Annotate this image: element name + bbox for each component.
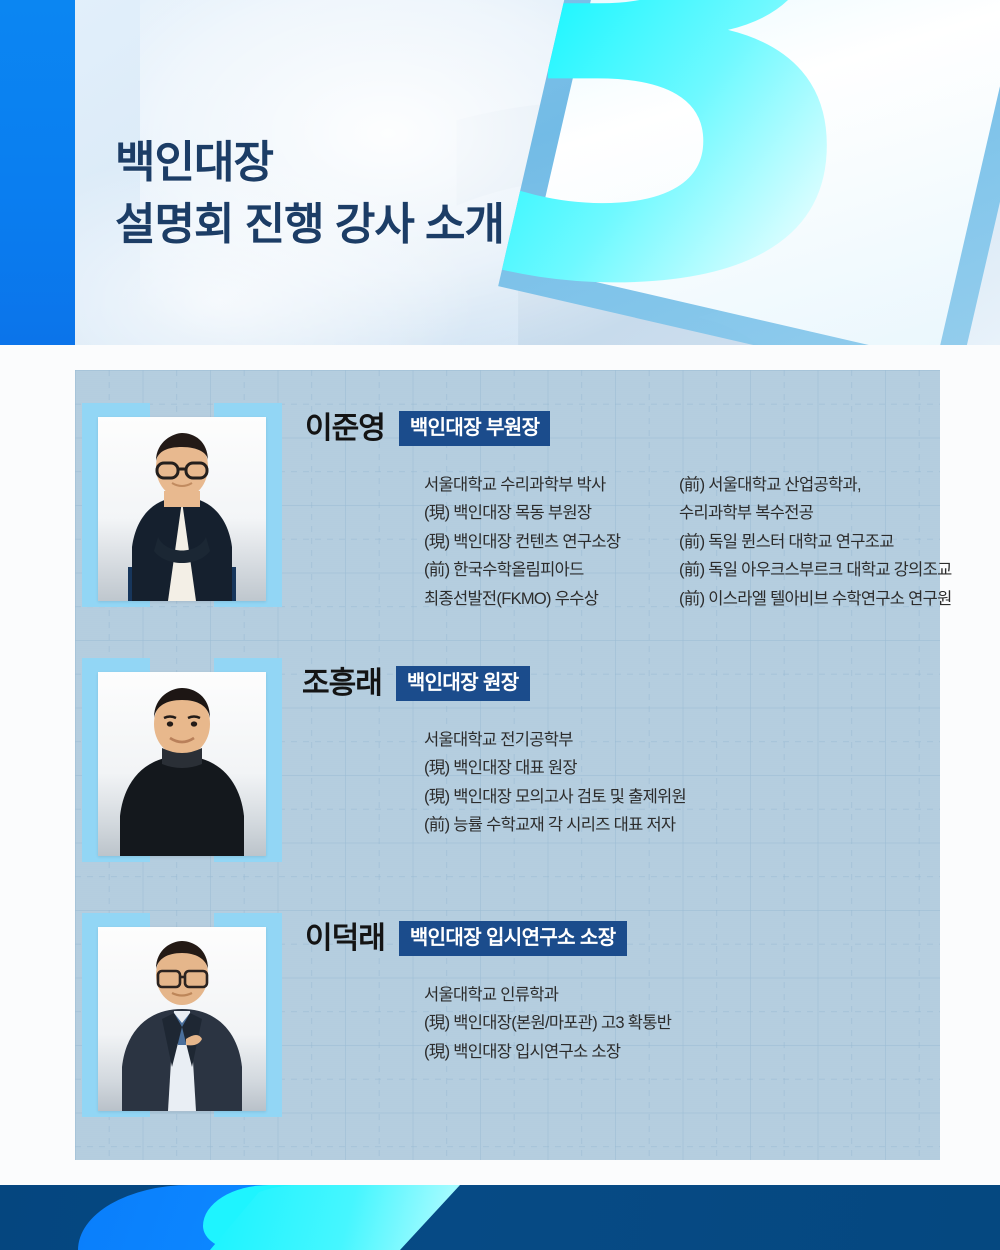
- detail-item: 서울대학교 수리과학부 박사: [424, 471, 639, 499]
- footer-decoration-bar: [0, 1185, 1000, 1250]
- header-banner: 3 3 백인대장 설명회 진행 강사 소개: [0, 0, 1000, 345]
- instructor-name: 조흥래: [302, 669, 382, 699]
- instructor-details: 서울대학교 인류학과 (現) 백인대장(본원/마포관) 고3 확통반 (現) 백…: [424, 981, 724, 1066]
- decor-numeral-three: 3: [498, 0, 879, 345]
- detail-item: 서울대학교 전기공학부: [424, 726, 724, 754]
- poster-root: 3 3 백인대장 설명회 진행 강사 소개: [0, 0, 1000, 1250]
- instructor-photo-frame: [82, 395, 282, 615]
- instructor-photo-frame: [82, 905, 282, 1125]
- header-left-accent-bar: [0, 0, 75, 345]
- instructor-details: 서울대학교 수리과학부 박사 (現) 백인대장 목동 부원장 (現) 백인대장 …: [424, 471, 979, 613]
- detail-item: (現) 백인대장 컨텐츠 연구소장: [424, 528, 639, 556]
- instructor-name-row: 조흥래 백인대장 원장: [302, 666, 530, 701]
- instructor-title-badge: 백인대장 원장: [396, 666, 530, 701]
- detail-item: (現) 백인대장 입시연구소 소장: [424, 1038, 724, 1066]
- portrait-illustration-icon: [98, 417, 266, 601]
- details-column-left: 서울대학교 전기공학부 (現) 백인대장 대표 원장 (現) 백인대장 모의고사…: [424, 726, 724, 840]
- detail-item: (現) 백인대장 목동 부원장: [424, 499, 639, 527]
- page-title: 백인대장 설명회 진행 강사 소개: [115, 132, 504, 257]
- detail-item: (現) 백인대장 대표 원장: [424, 754, 724, 782]
- instructor-name-row: 이준영 백인대장 부원장: [305, 411, 550, 446]
- detail-item: (現) 백인대장 모의고사 검토 및 출제위원: [424, 783, 724, 811]
- detail-item: (前) 독일 아우크스부르크 대학교 강의조교: [679, 556, 979, 584]
- detail-item: (前) 이스라엘 텔아비브 수학연구소 연구원: [679, 585, 979, 613]
- instructor-portrait-photo: [98, 927, 266, 1111]
- instructor-portrait-photo: [98, 672, 266, 856]
- instructor-name-row: 이덕래 백인대장 입시연구소 소장: [305, 921, 627, 956]
- detail-item: (前) 독일 뮌스터 대학교 연구조교: [679, 528, 979, 556]
- detail-item: (前) 한국수학올림피아드 최종선발전(FKMO) 우수상: [424, 556, 639, 613]
- detail-item: 서울대학교 인류학과: [424, 981, 724, 1009]
- decor-rotated-plate: 3: [498, 0, 1000, 345]
- detail-item: (現) 백인대장(본원/마포관) 고3 확통반: [424, 1009, 724, 1037]
- instructor-name: 이준영: [305, 414, 385, 444]
- portrait-illustration-icon: [98, 672, 266, 856]
- instructor-photo-frame: [82, 650, 282, 870]
- portrait-illustration-icon: [98, 927, 266, 1111]
- details-column-left: 서울대학교 인류학과 (現) 백인대장(본원/마포관) 고3 확통반 (現) 백…: [424, 981, 724, 1066]
- instructor-title-badge: 백인대장 입시연구소 소장: [399, 921, 627, 956]
- instructor-portrait-photo: [98, 417, 266, 601]
- instructor-details: 서울대학교 전기공학부 (現) 백인대장 대표 원장 (現) 백인대장 모의고사…: [424, 726, 724, 840]
- detail-item: (前) 능률 수학교재 각 시리즈 대표 저자: [424, 811, 724, 839]
- instructor-title-badge: 백인대장 부원장: [399, 411, 551, 446]
- instructor-name: 이덕래: [305, 924, 385, 954]
- decor-numeral-clip: 3: [498, 0, 1000, 345]
- detail-item: (前) 서울대학교 산업공학과, 수리과학부 복수전공: [679, 471, 979, 528]
- details-column-right: (前) 서울대학교 산업공학과, 수리과학부 복수전공 (前) 독일 뮌스터 대…: [679, 471, 979, 613]
- details-column-left: 서울대학교 수리과학부 박사 (現) 백인대장 목동 부원장 (現) 백인대장 …: [424, 471, 639, 613]
